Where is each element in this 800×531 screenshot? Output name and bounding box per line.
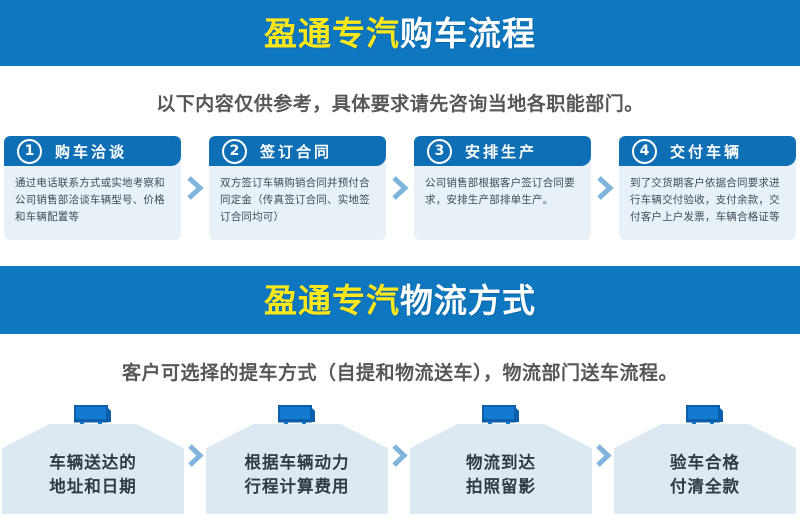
step-card-1[interactable]: 1 购车洽谈 通过电话联系方式或实地考察和公司销售部洽谈车辆型号、价格和车辆配置… [4, 136, 181, 240]
chevron-right-icon [186, 175, 204, 201]
step-header-4: 4 交付车辆 [619, 136, 796, 166]
logistics-card-1-line2: 地址和日期 [49, 475, 137, 499]
step-header-3: 3 安排生产 [414, 136, 591, 166]
logistics-card-1-line1: 车辆送达的 [49, 451, 137, 475]
purchase-banner-brand: 盈通专汽 [264, 14, 400, 53]
logistics-card-2-line2: 行程计算费用 [245, 475, 350, 499]
chevron-right-icon [391, 443, 408, 468]
logistics-card-4-shape: 验车合格 付清全款 [614, 424, 796, 514]
step-card-3[interactable]: 3 安排生产 公司销售部根据客户签订合同要求，安排生产部排单生产。 [414, 136, 591, 240]
logistics-card-4-line1: 验车合格 [670, 451, 740, 475]
logistics-arrow-2 [388, 402, 410, 514]
step-title-4: 交付车辆 [670, 141, 742, 162]
logistics-card-2-line1: 根据车辆动力 [245, 451, 350, 475]
logistics-card-3-line1: 物流到达 [466, 451, 536, 475]
logistics-subtitle: 客户可选择的提车方式（自提和物流送车），物流部门送车流程。 [0, 334, 800, 385]
logistics-banner-rest: 物流方式 [400, 281, 536, 320]
chevron-right-icon [596, 175, 614, 201]
step-header-2: 2 签订合同 [209, 136, 386, 166]
purchase-steps-row: 1 购车洽谈 通过电话联系方式或实地考察和公司销售部洽谈车辆型号、价格和车辆配置… [0, 136, 800, 244]
logistics-card-1[interactable]: 车辆送达的 地址和日期 [2, 402, 184, 514]
step-arrow-3 [591, 136, 619, 240]
step-title-1: 购车洽谈 [55, 141, 127, 162]
step-title-3: 安排生产 [465, 141, 537, 162]
logistics-arrow-1 [184, 402, 206, 514]
purchase-banner-rest: 购车流程 [400, 14, 536, 53]
step-arrow-1 [181, 136, 209, 240]
step-number-badge-3: 3 [427, 139, 452, 164]
step-title-2: 签订合同 [260, 141, 332, 162]
logistics-arrow-3 [592, 402, 614, 514]
purchase-subtitle: 以下内容仅供参考，具体要求请先咨询当地各职能部门。 [0, 66, 800, 116]
step-body-3: 公司销售部根据客户签订合同要求，安排生产部排单生产。 [414, 166, 591, 209]
logistics-card-4[interactable]: 验车合格 付清全款 [614, 402, 796, 514]
step-body-1: 通过电话联系方式或实地考察和公司销售部洽谈车辆型号、价格和车辆配置等 [4, 166, 181, 226]
step-body-4: 到了交货期客户依据合同要求进行车辆交付验收，支付余款，交付客户上户发票，车辆合格… [619, 166, 796, 226]
logistics-card-2[interactable]: 根据车辆动力 行程计算费用 [206, 402, 388, 514]
logistics-card-4-line2: 付清全款 [670, 475, 740, 499]
logistics-banner: 盈通专汽物流方式 [0, 266, 800, 334]
logistics-card-3[interactable]: 物流到达 拍照留影 [410, 402, 592, 514]
step-number-badge-2: 2 [222, 139, 247, 164]
chevron-right-icon [595, 443, 612, 468]
logistics-card-1-shape: 车辆送达的 地址和日期 [2, 424, 184, 514]
logistics-card-3-line2: 拍照留影 [466, 475, 536, 499]
logistics-card-2-shape: 根据车辆动力 行程计算费用 [206, 424, 388, 514]
purchase-banner-title: 盈通专汽购车流程 [264, 17, 536, 50]
logistics-cards-row: 车辆送达的 地址和日期 根据车辆动力 行程计算费用 [0, 399, 800, 514]
step-body-2: 双方签订车辆购销合同并预付合同定金（传真签订合同、实地签订合同均可） [209, 166, 386, 226]
chevron-right-icon [187, 443, 204, 468]
purchase-banner: 盈通专汽购车流程 [0, 0, 800, 66]
chevron-right-icon [391, 175, 409, 201]
logistics-banner-brand: 盈通专汽 [264, 281, 400, 320]
step-number-badge-4: 4 [632, 139, 657, 164]
logistics-banner-title: 盈通专汽物流方式 [264, 284, 536, 317]
step-card-4[interactable]: 4 交付车辆 到了交货期客户依据合同要求进行车辆交付验收，支付余款，交付客户上户… [619, 136, 796, 240]
step-arrow-2 [386, 136, 414, 240]
step-header-1: 1 购车洽谈 [4, 136, 181, 166]
step-number-badge-1: 1 [17, 139, 42, 164]
logistics-card-3-shape: 物流到达 拍照留影 [410, 424, 592, 514]
step-card-2[interactable]: 2 签订合同 双方签订车辆购销合同并预付合同定金（传真签订合同、实地签订合同均可… [209, 136, 386, 240]
